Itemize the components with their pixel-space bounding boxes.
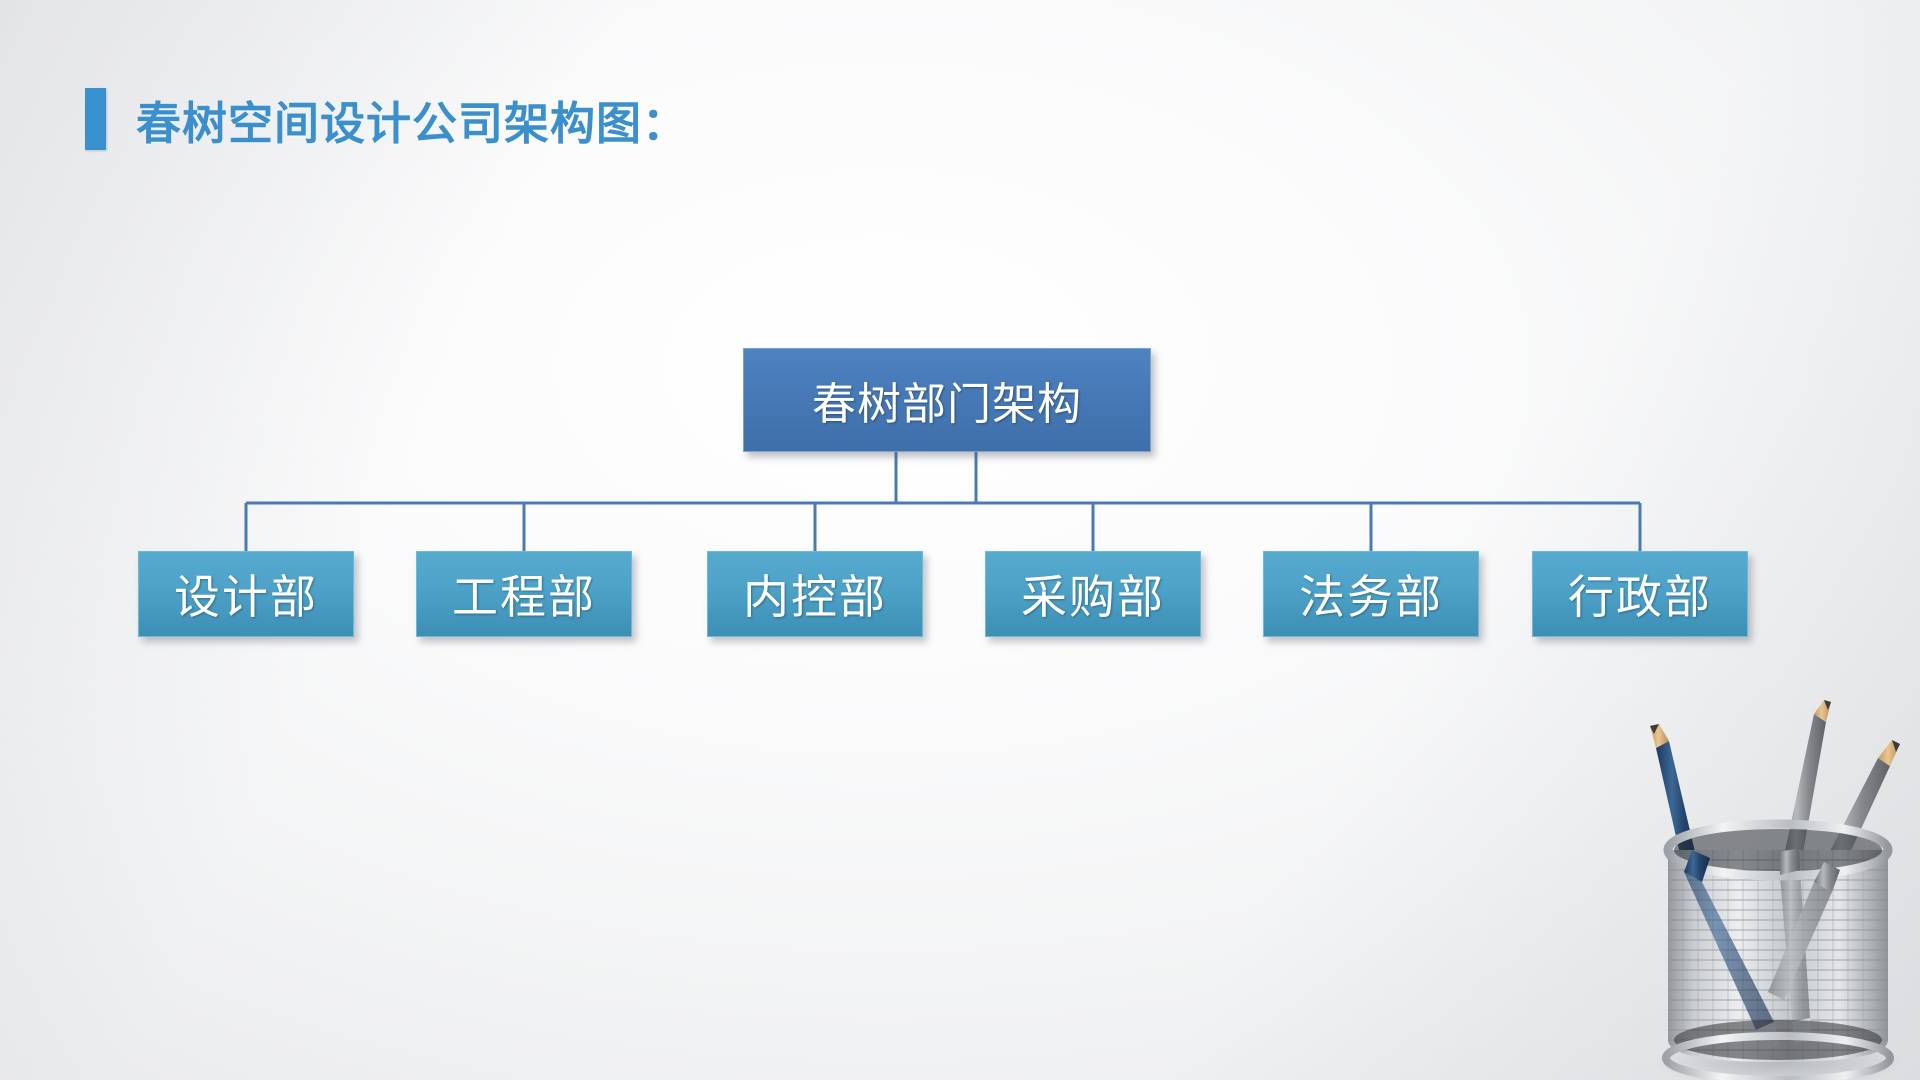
org-node-root[interactable]: 春树部门架构 (743, 348, 1151, 452)
org-node-department-2-label: 工程部 (452, 561, 596, 627)
org-node-department-4-label: 采购部 (1021, 561, 1165, 627)
slide-canvas: 春树空间设计公司架构图： 春树部门架构 (0, 0, 1920, 1080)
org-node-department-4[interactable]: 采购部 (985, 551, 1201, 637)
org-department-row: 设计部 工程部 内控部 采购部 法务部 行政部 (0, 551, 1920, 651)
pencil-cup-image (1628, 700, 1920, 1080)
org-node-department-2[interactable]: 工程部 (416, 551, 632, 637)
org-node-department-5[interactable]: 法务部 (1263, 551, 1479, 637)
org-node-department-1-label: 设计部 (174, 561, 318, 627)
org-node-department-6[interactable]: 行政部 (1532, 551, 1748, 637)
org-node-department-6-label: 行政部 (1568, 561, 1712, 627)
org-node-root-label: 春树部门架构 (812, 368, 1082, 432)
org-node-department-3-label: 内控部 (743, 561, 887, 627)
org-node-department-3[interactable]: 内控部 (707, 551, 923, 637)
org-node-department-5-label: 法务部 (1299, 561, 1443, 627)
org-node-department-1[interactable]: 设计部 (138, 551, 354, 637)
